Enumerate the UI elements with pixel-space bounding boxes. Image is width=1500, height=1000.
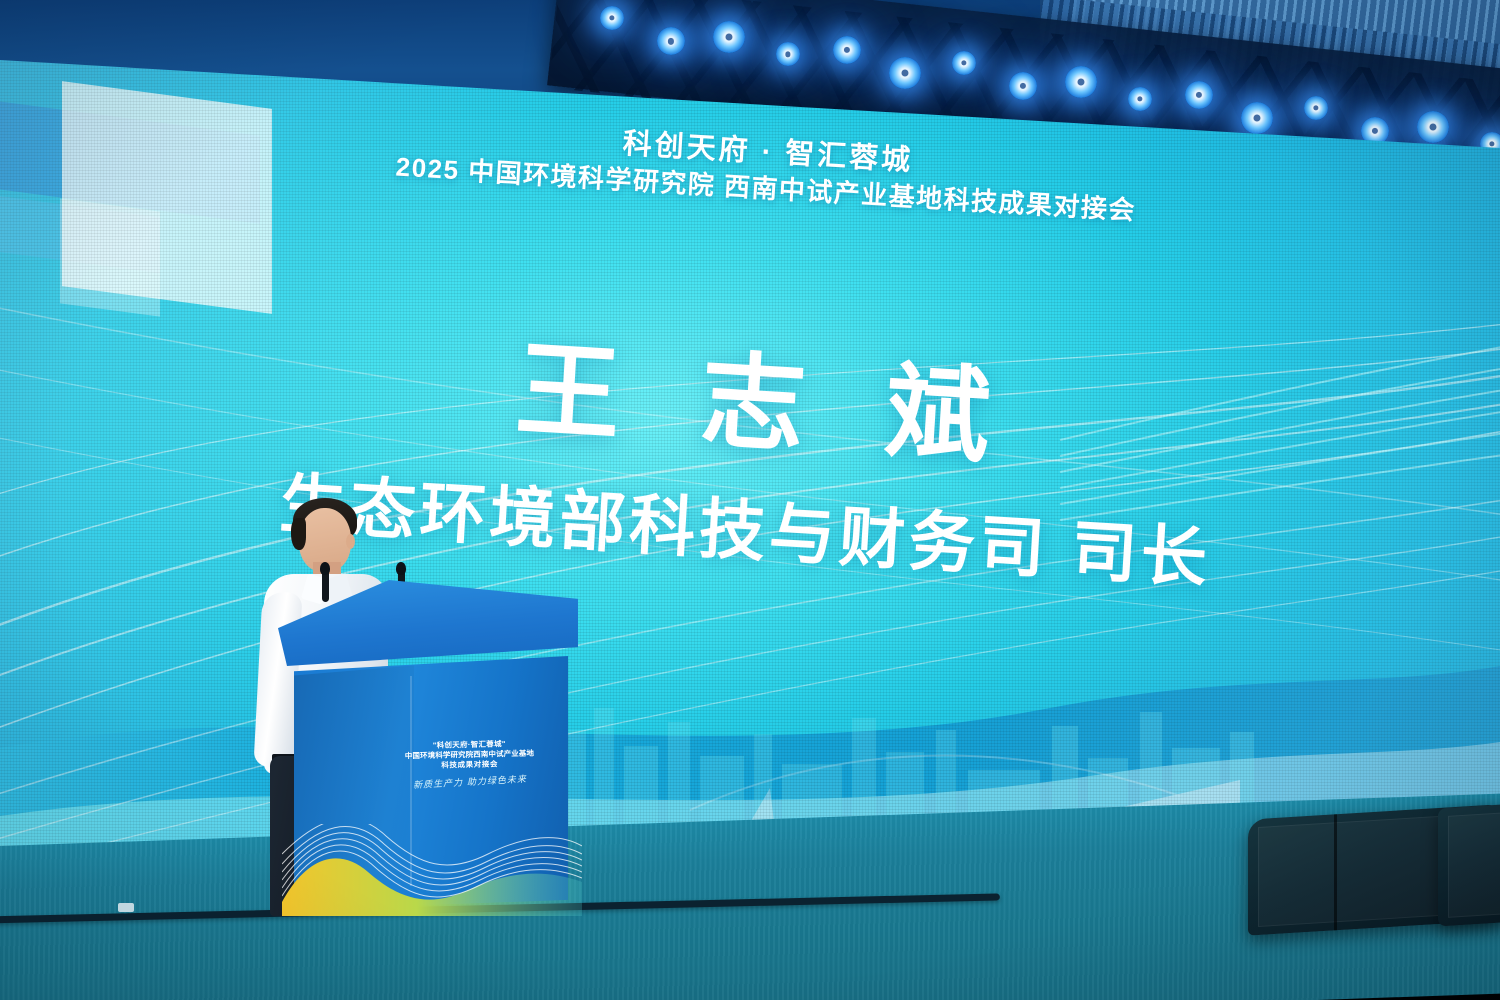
par-light	[657, 27, 685, 55]
cable-clip	[118, 903, 134, 912]
led-backdrop-wall: 科创天府 · 智汇蓉城 2025 中国环境科学研究院 西南中试产业基地科技成果对…	[0, 0, 1500, 910]
par-light	[1128, 87, 1152, 111]
person-hair-side	[291, 518, 306, 550]
podium: "科创天府·智汇蓉城" 中国环境科学研究院西南中试产业基地 科技成果对接会 新质…	[278, 580, 578, 910]
person-ear	[346, 534, 355, 549]
podium-sign: "科创天府·智汇蓉城" 中国环境科学研究院西南中试产业基地 科技成果对接会 新质…	[403, 739, 537, 822]
par-light	[1009, 72, 1037, 100]
par-light	[952, 51, 976, 75]
podium-lectern-top	[278, 580, 578, 666]
microphone-head-left	[320, 562, 330, 575]
par-light	[1304, 96, 1328, 120]
led-screen-text-group: 科创天府 · 智汇蓉城 2025 中国环境科学研究院 西南中试产业基地科技成果对…	[0, 0, 1500, 910]
par-light	[833, 36, 861, 64]
podium-sign-calligraphy: 新质生产力 助力绿色未来	[404, 774, 536, 793]
conference-stage-photo: 科创天府 · 智汇蓉城 2025 中国环境科学研究院 西南中试产业基地科技成果对…	[0, 0, 1500, 1000]
monitor-split	[1334, 814, 1337, 930]
stage-monitor-far-right	[1438, 804, 1500, 927]
par-light	[1065, 66, 1097, 98]
monitor-grill	[1448, 812, 1500, 918]
podium-base-wave-graphic	[282, 824, 582, 916]
par-light	[1417, 111, 1449, 143]
par-light	[600, 6, 624, 30]
par-light	[1185, 81, 1213, 109]
microphone-head-right	[396, 562, 406, 575]
